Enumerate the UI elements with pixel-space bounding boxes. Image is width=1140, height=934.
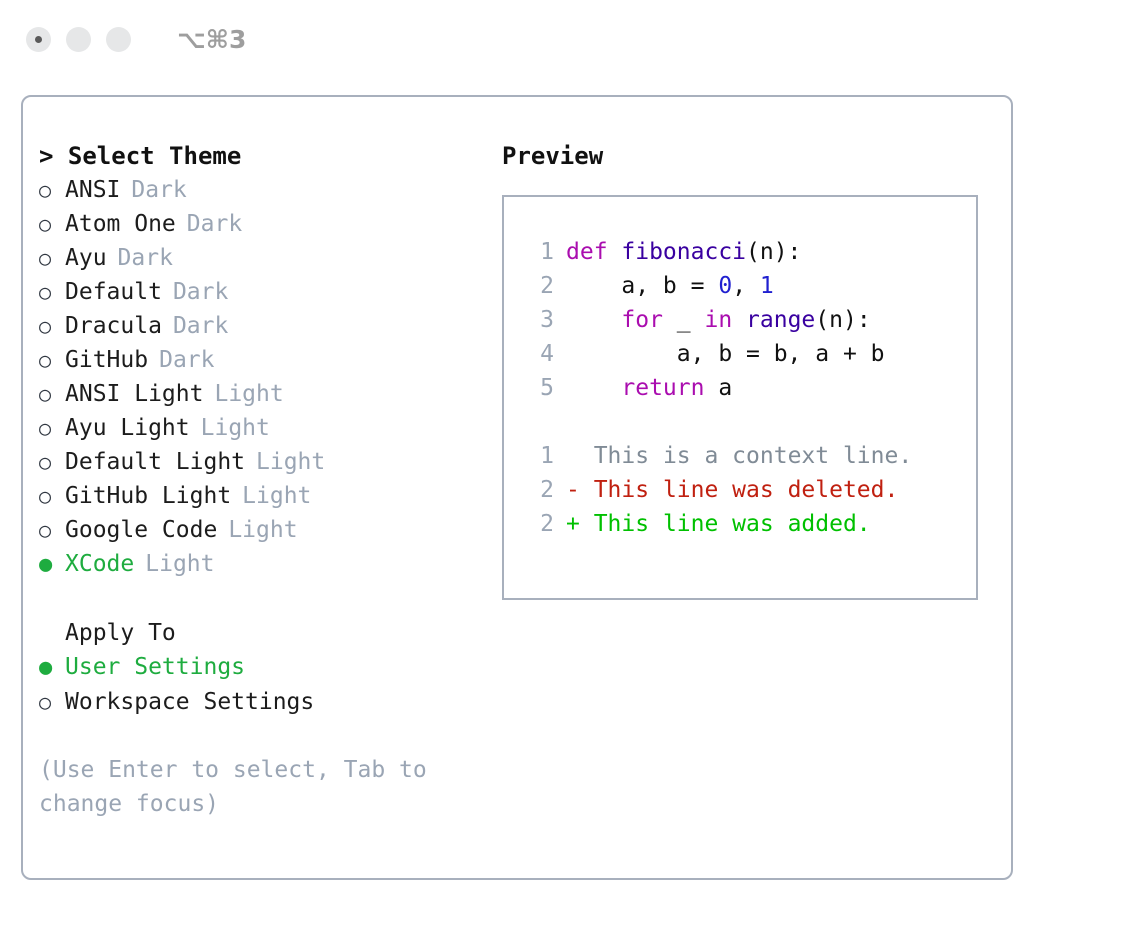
diff-line-number: 2 [524,507,554,541]
theme-option-row[interactable]: ○GitHub LightLight [39,479,469,513]
code-line: 4 a, b = b, a + b [504,337,976,371]
radio-unselected-icon[interactable]: ○ [39,241,65,275]
preview-column: Preview 1def fibonacci(n):2 a, b = 0, 13… [502,139,982,600]
apply-to-header: Apply To [65,616,469,650]
apply-to-option-row[interactable]: ●User Settings [39,650,469,685]
keyboard-hint-text: (Use Enter to select, Tab to change focu… [39,753,439,821]
code-line: 3 for _ in range(n): [504,303,976,337]
code-token: (n): [746,239,801,265]
radio-unselected-icon[interactable]: ○ [39,377,65,411]
theme-variant-badge: Dark [131,173,186,207]
code-token: range [746,307,815,333]
app-window: ⌥⌘3 > Select Theme ○ANSIDark○Atom OneDar… [0,0,1140,934]
theme-option-row[interactable]: ○ANSI LightLight [39,377,469,411]
code-line: 5 return a [504,371,976,405]
theme-option-label: Atom One [65,207,176,241]
theme-option-row[interactable]: ○DefaultDark [39,275,469,309]
radio-selected-icon[interactable]: ● [39,548,65,582]
code-line: 1def fibonacci(n): [504,235,976,269]
code-sample: 1def fibonacci(n):2 a, b = 0, 13 for _ i… [504,235,976,405]
theme-variant-badge: Light [256,445,325,479]
theme-option-label: GitHub [65,343,148,377]
code-token: _ [663,307,705,333]
code-token: return [621,375,704,401]
code-line-number: 1 [524,235,554,269]
theme-option-label: ANSI [65,173,120,207]
theme-variant-badge: Dark [173,309,228,343]
theme-option-row[interactable]: ○GitHubDark [39,343,469,377]
radio-unselected-icon[interactable]: ○ [39,513,65,547]
diff-line-text: This is a context line. [580,439,912,473]
radio-unselected-icon[interactable]: ○ [39,685,65,719]
code-token: def [566,239,621,265]
diff-line: 2- This line was deleted. [504,473,976,507]
code-line-text: a, b = b, a + b [566,337,885,371]
theme-list: ○ANSIDark○Atom OneDark○AyuDark○DefaultDa… [39,173,469,582]
code-line-number: 5 [524,371,554,405]
code-diff-separator [504,405,976,439]
radio-selected-icon[interactable]: ● [39,651,65,685]
apply-to-option-label: Workspace Settings [65,685,314,719]
theme-option-row[interactable]: ●XCodeLight [39,547,469,582]
code-line-text: return a [566,371,732,405]
radio-unselected-icon[interactable]: ○ [39,309,65,343]
theme-variant-badge: Light [242,479,311,513]
main-panel: > Select Theme ○ANSIDark○Atom OneDark○Ay… [21,95,1013,880]
apply-to-option-label: User Settings [65,650,245,684]
select-theme-header: > Select Theme [39,139,469,173]
theme-option-row[interactable]: ○Ayu LightLight [39,411,469,445]
theme-variant-badge: Dark [159,343,214,377]
traffic-light-group [26,27,131,52]
theme-option-label: Google Code [65,513,217,547]
theme-variant-badge: Light [228,513,297,547]
theme-apply-spacer [39,582,469,616]
window-minimize-button[interactable] [66,27,91,52]
window-titlebar: ⌥⌘3 [0,0,1140,78]
diff-marker: + [566,507,580,541]
keyboard-shortcut-label: ⌥⌘3 [177,25,246,54]
diff-line: 2+ This line was added. [504,507,976,541]
code-token [566,307,621,333]
diff-line-text: This line was deleted. [580,473,899,507]
code-line: 2 a, b = 0, 1 [504,269,976,303]
radio-unselected-icon[interactable]: ○ [39,207,65,241]
code-token: a, b = b, a + b [566,341,885,367]
diff-line-number: 2 [524,473,554,507]
theme-option-label: XCode [65,547,134,581]
code-line-text: a, b = 0, 1 [566,269,774,303]
code-token: , [732,273,760,299]
code-token: fibonacci [621,239,746,265]
preview-header: Preview [502,139,982,173]
code-token: (n): [815,307,870,333]
theme-option-row[interactable]: ○AyuDark [39,241,469,275]
apply-to-option-row[interactable]: ○Workspace Settings [39,685,469,719]
code-line-number: 2 [524,269,554,303]
theme-variant-badge: Light [214,377,283,411]
code-line-text: def fibonacci(n): [566,235,801,269]
theme-variant-badge: Light [145,547,214,581]
theme-option-label: ANSI Light [65,377,203,411]
code-token: for [621,307,663,333]
code-token [732,307,746,333]
diff-marker: - [566,473,580,507]
theme-option-row[interactable]: ○Atom OneDark [39,207,469,241]
radio-unselected-icon[interactable]: ○ [39,445,65,479]
theme-option-row[interactable]: ○Default LightLight [39,445,469,479]
theme-option-label: Ayu [65,241,107,275]
theme-option-row[interactable]: ○DraculaDark [39,309,469,343]
theme-option-label: Ayu Light [65,411,190,445]
window-close-button[interactable] [26,27,51,52]
radio-unselected-icon[interactable]: ○ [39,275,65,309]
radio-unselected-icon[interactable]: ○ [39,411,65,445]
code-token: 0 [718,273,732,299]
radio-unselected-icon[interactable]: ○ [39,173,65,207]
code-token: a, b = [566,273,718,299]
code-token: 1 [760,273,774,299]
code-token: in [704,307,732,333]
diff-marker [566,439,580,473]
theme-option-label: Default Light [65,445,245,479]
apply-to-list: ●User Settings○Workspace Settings [39,650,469,719]
radio-unselected-icon[interactable]: ○ [39,479,65,513]
theme-selection-column: > Select Theme ○ANSIDark○Atom OneDark○Ay… [39,139,469,821]
diff-line-number: 1 [524,439,554,473]
code-line-text: for _ in range(n): [566,303,871,337]
diff-line: 1 This is a context line. [504,439,976,473]
diff-sample: 1 This is a context line.2- This line wa… [504,439,976,541]
theme-option-label: Default [65,275,162,309]
radio-unselected-icon[interactable]: ○ [39,343,65,377]
theme-variant-badge: Dark [187,207,242,241]
theme-option-label: Dracula [65,309,162,343]
code-token: a [704,375,732,401]
theme-option-row[interactable]: ○ANSIDark [39,173,469,207]
diff-line-text: This line was added. [580,507,871,541]
theme-variant-badge: Dark [118,241,173,275]
theme-variant-badge: Light [201,411,270,445]
theme-variant-badge: Dark [173,275,228,309]
code-line-number: 3 [524,303,554,337]
code-token [566,375,621,401]
code-line-number: 4 [524,337,554,371]
theme-option-row[interactable]: ○Google CodeLight [39,513,469,547]
window-maximize-button[interactable] [106,27,131,52]
preview-box: 1def fibonacci(n):2 a, b = 0, 13 for _ i… [502,195,978,600]
theme-option-label: GitHub Light [65,479,231,513]
